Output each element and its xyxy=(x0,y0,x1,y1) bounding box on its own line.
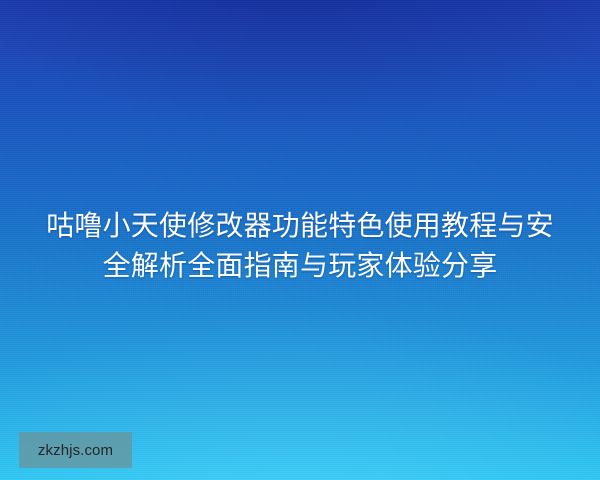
watermark-text: zkzhjs.com xyxy=(38,443,113,458)
watermark-badge: zkzhjs.com xyxy=(19,432,132,468)
page-title-line-1: 咕噜小天使修改器功能特色使用教程与安 xyxy=(0,206,600,246)
page-title: 咕噜小天使修改器功能特色使用教程与安 全解析全面指南与玩家体验分享 xyxy=(0,206,600,286)
banner-image: 咕噜小天使修改器功能特色使用教程与安 全解析全面指南与玩家体验分享 zkzhjs… xyxy=(0,0,600,480)
page-title-line-2: 全解析全面指南与玩家体验分享 xyxy=(0,246,600,286)
